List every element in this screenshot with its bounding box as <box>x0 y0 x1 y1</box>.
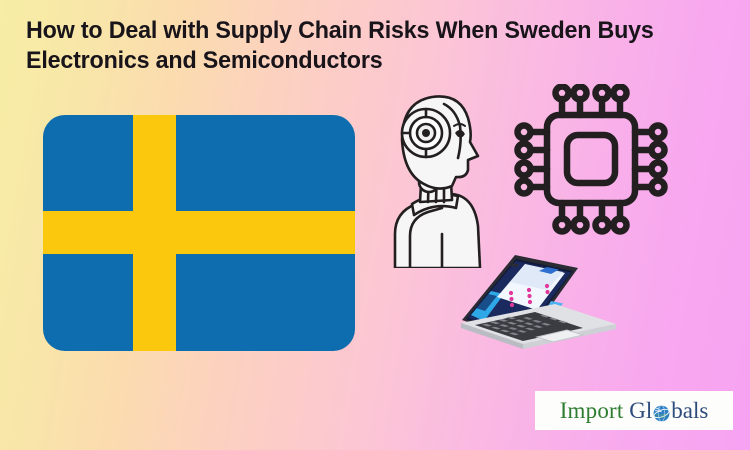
globe-icon <box>652 403 671 422</box>
logo-word-import: Import <box>560 398 624 424</box>
page-title-line-1: How to Deal with Supply Chain Risks When… <box>26 16 664 46</box>
microchip-icon <box>505 84 677 236</box>
logo-word-bals: bals <box>671 398 708 424</box>
logo-text: Import Gl bals <box>560 398 709 424</box>
flag-cross-vertical <box>133 115 176 351</box>
robot-bust-icon <box>382 84 490 268</box>
logo-word-gl: Gl <box>629 398 652 424</box>
import-globals-logo[interactable]: Import Gl bals <box>535 391 733 430</box>
infographic-canvas: How to Deal with Supply Chain Risks When… <box>0 0 750 450</box>
laptop-icon <box>455 245 623 377</box>
swedish-flag-icon <box>43 115 355 351</box>
page-title: How to Deal with Supply Chain Risks When… <box>26 16 698 76</box>
flag-cross-horizontal <box>43 211 355 254</box>
page-title-line-2: Electronics and Semiconductors <box>26 46 664 76</box>
